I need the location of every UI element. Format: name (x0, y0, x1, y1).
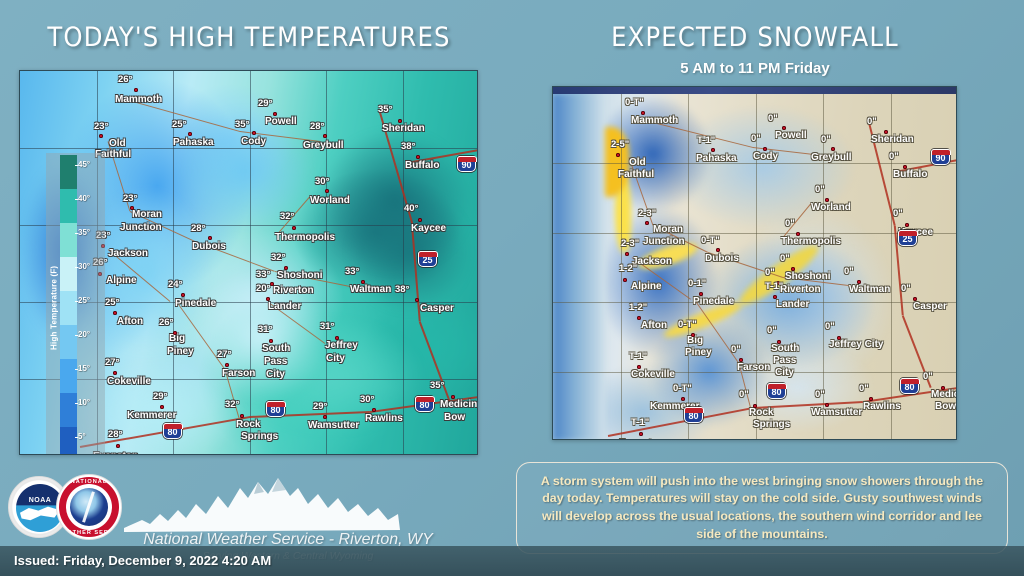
city-marker-dot (763, 147, 767, 151)
snowfall-city-labels: Mammoth0-T"OldFaithful2-5"PahaskaT-1"Cod… (553, 87, 956, 439)
colorbar-segment (60, 257, 77, 291)
city-value-label: 23° (123, 193, 137, 204)
city-marker-dot (776, 281, 780, 285)
colorbar-tick-label: 15° (78, 364, 90, 373)
city-value-label: 0" (751, 133, 761, 144)
city-name-label: Mammoth (115, 94, 162, 105)
city-marker-dot (398, 119, 402, 123)
city-name-label: Piney (167, 346, 194, 357)
city-name-label: Jeffrey City (829, 339, 883, 350)
city-marker-dot (99, 134, 103, 138)
city-name-label: Sheridan (871, 134, 914, 145)
city-name-label: Pinedale (175, 298, 216, 309)
city-name-label: Farson (737, 362, 770, 373)
city-value-label: T-1" (765, 281, 783, 292)
city-value-label: 1-2" (629, 302, 647, 313)
city-value-label: 33° (345, 266, 359, 277)
nws-logo: NATIONAL WEATHER SERVICE (56, 474, 122, 540)
city-marker-dot (623, 278, 627, 282)
city-marker-dot (869, 397, 873, 401)
city-marker-dot (372, 408, 376, 412)
city-name-label: Lander (268, 301, 301, 312)
interstate-shield-90: 90 (931, 149, 950, 165)
city-value-label: 25° (105, 297, 119, 308)
city-value-label: 30° (315, 176, 329, 187)
city-marker-dot (292, 226, 296, 230)
city-value-label: 0" (867, 116, 877, 127)
city-name-label: Powell (775, 130, 807, 141)
city-value-label: 38° (395, 284, 409, 295)
city-marker-dot (416, 155, 420, 159)
interstate-shield-90: 90 (457, 156, 476, 172)
city-name-label: Junction (120, 222, 162, 233)
city-value-label: 2-3" (638, 208, 656, 219)
temperature-colorbar (60, 155, 77, 455)
temperature-legend-label: High Temperature (F) (48, 155, 60, 455)
city-marker-dot (739, 358, 743, 362)
city-marker-dot (711, 148, 715, 152)
city-name-label: Old (629, 157, 646, 168)
colorbar-tick-label: 30° (78, 262, 90, 271)
city-name-label: Moran (132, 209, 162, 220)
city-value-label: 2-5" (611, 139, 629, 150)
city-name-label: Jackson (632, 256, 672, 267)
city-value-label: 31° (258, 324, 272, 335)
city-name-label: Medicine (440, 399, 478, 410)
interstate-shield-80: 80 (684, 407, 703, 423)
city-value-label: 28° (191, 223, 205, 234)
city-name-label: Afton (641, 320, 667, 331)
city-value-label: 0" (901, 283, 911, 294)
interstate-shield-80: 80 (767, 383, 786, 399)
city-name-label: Dubois (192, 241, 226, 252)
interstate-shield-25: 25 (418, 251, 437, 267)
city-name-label: Afton (117, 316, 143, 327)
city-name-label: Pass (264, 356, 287, 367)
city-value-label: 0-1" (688, 278, 706, 289)
city-marker-dot (639, 432, 643, 436)
city-value-label: 0" (739, 389, 749, 400)
city-marker-dot (130, 206, 134, 210)
nws-seal-text-top: NATIONAL (57, 479, 121, 485)
city-marker-dot (645, 221, 649, 225)
city-value-label: 0-T" (625, 97, 644, 108)
city-value-label: 0" (815, 389, 825, 400)
city-marker-dot (173, 331, 177, 335)
city-marker-dot (240, 414, 244, 418)
city-name-label: Kemmerer (127, 410, 176, 421)
city-name-label: Pass (773, 355, 796, 366)
city-name-label: Dubois (705, 253, 739, 264)
nws-seal-text: NATIONAL WEATHER SERVICE (57, 475, 121, 539)
city-name-label: Casper (913, 301, 947, 312)
city-name-label: Evanston (619, 438, 664, 440)
city-value-label: 33° (256, 269, 270, 280)
city-name-label: Waltman (849, 284, 890, 295)
colorbar-tick-label: 20° (78, 330, 90, 339)
temperature-legend: High Temperature (F) 45°40°35°30°25°20°1… (46, 153, 105, 455)
city-marker-dot (825, 198, 829, 202)
city-name-label: Faithful (618, 169, 654, 180)
city-marker-dot (699, 292, 703, 296)
city-name-label: Buffalo (405, 160, 439, 171)
city-marker-dot (225, 363, 229, 367)
city-name-label: Shoshoni (277, 270, 323, 281)
city-name-label: Casper (420, 303, 454, 314)
interstate-shield-25: 25 (898, 230, 917, 246)
city-name-label: City (326, 353, 345, 364)
city-marker-dot (782, 126, 786, 130)
city-name-label: South (262, 343, 290, 354)
city-marker-dot (325, 189, 329, 193)
city-name-label: South (771, 343, 799, 354)
city-marker-dot (113, 371, 117, 375)
city-name-label: Cody (753, 151, 778, 162)
city-marker-dot (884, 130, 888, 134)
city-marker-dot (777, 340, 781, 344)
city-name-label: Wamsutter (811, 407, 862, 418)
page-title-snowfall: Expected Snowfall (552, 22, 958, 53)
city-value-label: 32° (271, 252, 285, 263)
city-marker-dot (181, 293, 185, 297)
city-name-label: Springs (753, 419, 790, 430)
city-marker-dot (266, 297, 270, 301)
city-marker-dot (831, 147, 835, 151)
city-marker-dot (335, 336, 339, 340)
city-value-label: 29° (258, 98, 272, 109)
city-marker-dot (903, 165, 907, 169)
city-name-label: Kaycee (411, 223, 446, 234)
city-name-label: Worland (310, 195, 350, 206)
city-name-label: Pahaska (173, 137, 214, 148)
city-marker-dot (418, 218, 422, 222)
colorbar-tick-label: 10° (78, 398, 90, 407)
city-value-label: 0" (780, 253, 790, 264)
city-value-label: 35° (430, 380, 444, 391)
city-marker-dot (284, 266, 288, 270)
city-name-label: Thermopolis (781, 236, 841, 247)
city-value-label: T-1" (629, 351, 647, 362)
city-marker-dot (941, 386, 945, 390)
city-value-label: 0" (767, 325, 777, 336)
city-value-label: 29° (153, 391, 167, 402)
noaa-bird-icon (20, 504, 60, 526)
city-value-label: 0" (785, 218, 795, 229)
city-name-label: Riverton (780, 284, 821, 295)
city-name-label: Greybull (303, 140, 344, 151)
city-name-label: Alpine (106, 275, 137, 286)
city-marker-dot (415, 298, 419, 302)
interstate-shield-80: 80 (900, 378, 919, 394)
city-name-label: Shoshoni (785, 271, 831, 282)
city-marker-dot (637, 316, 641, 320)
snowfall-map[interactable]: Mammoth0-T"OldFaithful2-5"PahaskaT-1"Cod… (552, 86, 957, 440)
city-marker-dot (913, 297, 917, 301)
city-name-label: Powell (265, 116, 297, 127)
city-name-label: Bow (444, 412, 465, 423)
city-name-label: Cody (241, 136, 266, 147)
city-marker-dot (857, 280, 861, 284)
city-marker-dot (134, 88, 138, 92)
city-value-label: 0" (768, 113, 778, 124)
colorbar-tick-label: 35° (78, 228, 90, 237)
city-name-label: Medicine (931, 389, 957, 400)
city-value-label: T-1" (697, 135, 715, 146)
city-name-label: Alpine (631, 281, 662, 292)
temperature-map[interactable]: Mammoth26°OldFaithful23°Pahaska25°Cody35… (19, 70, 478, 455)
city-name-label: Wamsutter (308, 420, 359, 431)
city-marker-dot (796, 232, 800, 236)
city-value-label: 32° (280, 211, 294, 222)
city-marker-dot (625, 252, 629, 256)
city-marker-dot (208, 236, 212, 240)
city-marker-dot (273, 112, 277, 116)
city-value-label: 0" (765, 267, 775, 278)
city-value-label: 27° (105, 357, 119, 368)
city-value-label: 0" (889, 151, 899, 162)
temperature-colorbar-ticks: 45°40°35°30°25°20°15°10°5° (77, 155, 103, 455)
city-marker-dot (188, 132, 192, 136)
city-name-label: Jeffrey (325, 340, 358, 351)
page-title-temperature: Today's High Temperatures (19, 22, 479, 53)
city-marker-dot (691, 333, 695, 337)
city-marker-dot (837, 336, 841, 340)
city-name-label: Worland (811, 202, 851, 213)
city-value-label: 20° (256, 283, 270, 294)
city-marker-dot (323, 415, 327, 419)
city-marker-dot (773, 295, 777, 299)
city-value-label: 0" (731, 344, 741, 355)
colorbar-tick-label: 40° (78, 194, 90, 203)
colorbar-segment (60, 223, 77, 257)
city-marker-dot (753, 404, 757, 408)
city-value-label: 0" (821, 134, 831, 145)
mountain-range-graphic (122, 474, 402, 536)
city-marker-dot (269, 339, 273, 343)
city-value-label: 1-2" (619, 263, 637, 274)
city-value-label: 32° (225, 399, 239, 410)
city-name-label: Rock (749, 407, 773, 418)
interstate-shield-80: 80 (415, 396, 434, 412)
colorbar-segment (60, 393, 77, 427)
colorbar-segment (60, 189, 77, 223)
city-name-label: Moran (653, 224, 683, 235)
city-name-label: Greybull (811, 152, 852, 163)
city-marker-dot (160, 405, 164, 409)
city-name-label: Lander (776, 299, 809, 310)
city-name-label: Old (109, 138, 126, 149)
issued-bar: Issued: Friday, December 9, 2022 4:20 AM (0, 546, 1024, 576)
city-name-label: Thermopolis (275, 232, 335, 243)
colorbar-segment (60, 359, 77, 393)
city-name-label: Jackson (108, 248, 148, 259)
city-value-label: 40° (404, 203, 418, 214)
city-name-label: Buffalo (893, 169, 927, 180)
colorbar-segment (60, 427, 77, 455)
interstate-shield-80: 80 (266, 401, 285, 417)
city-marker-dot (681, 397, 685, 401)
city-marker-dot (270, 282, 274, 286)
city-name-label: Springs (241, 431, 278, 442)
city-marker-dot (641, 111, 645, 115)
city-value-label: 28° (108, 429, 122, 440)
city-marker-dot (252, 131, 256, 135)
city-value-label: 23° (94, 121, 108, 132)
city-marker-dot (905, 223, 909, 227)
city-marker-dot (116, 444, 120, 448)
city-marker-dot (825, 403, 829, 407)
city-name-label: Piney (685, 347, 712, 358)
city-marker-dot (451, 395, 455, 399)
city-value-label: 30° (360, 394, 374, 405)
city-name-label: Sheridan (382, 123, 425, 134)
city-value-label: 28° (310, 121, 324, 132)
city-value-label: 0" (859, 383, 869, 394)
colorbar-tick-label: 25° (78, 296, 90, 305)
city-name-label: Mammoth (631, 115, 678, 126)
city-value-label: 0" (825, 321, 835, 332)
city-value-label: 27° (217, 349, 231, 360)
forecast-discussion-text: A storm system will push into the west b… (533, 473, 991, 543)
city-marker-dot (637, 365, 641, 369)
city-name-label: City (266, 369, 285, 380)
city-name-label: Junction (643, 236, 685, 247)
colorbar-segment (60, 155, 77, 189)
city-marker-dot (361, 280, 365, 284)
city-name-label: Big (687, 335, 703, 346)
city-name-label: Rawlins (365, 413, 403, 424)
city-name-label: City (775, 367, 794, 378)
city-name-label: Riverton (273, 285, 314, 296)
city-value-label: 0-T" (701, 235, 720, 246)
city-value-label: 24° (168, 279, 182, 290)
nws-seal-text-bottom: WEATHER SERVICE (57, 530, 121, 536)
city-name-label: Pinedale (693, 296, 734, 307)
interstate-shield-80: 80 (163, 423, 182, 439)
colorbar-segment (60, 291, 77, 325)
city-name-label: Bow (935, 401, 956, 412)
city-value-label: 35° (378, 104, 392, 115)
city-marker-dot (791, 267, 795, 271)
forecast-discussion-box: A storm system will push into the west b… (516, 462, 1008, 554)
city-value-label: 25° (172, 119, 186, 130)
city-value-label: 29° (313, 401, 327, 412)
city-name-label: Cokeville (631, 369, 675, 380)
city-marker-dot (113, 311, 117, 315)
city-value-label: 0" (844, 266, 854, 277)
city-name-label: Rock (236, 419, 260, 430)
colorbar-tick-label: 45° (78, 160, 90, 169)
city-value-label: 35° (235, 119, 249, 130)
colorbar-segment (60, 325, 77, 359)
city-value-label: 26° (159, 317, 173, 328)
city-marker-dot (323, 134, 327, 138)
city-marker-dot (616, 153, 620, 157)
city-value-label: 0" (893, 208, 903, 219)
city-name-label: Farson (222, 368, 255, 379)
city-value-label: 0" (923, 371, 933, 382)
issued-timestamp: Issued: Friday, December 9, 2022 4:20 AM (14, 553, 271, 568)
city-value-label: 38° (401, 141, 415, 152)
city-value-label: 0" (815, 184, 825, 195)
city-marker-dot (716, 248, 720, 252)
city-value-label: 31° (320, 321, 334, 332)
city-name-label: Rawlins (863, 401, 901, 412)
city-value-label: 2-3" (621, 238, 639, 249)
city-value-label: T-1" (631, 417, 649, 428)
city-name-label: Cokeville (107, 376, 151, 387)
city-value-label: 0-T" (678, 319, 697, 330)
city-name-label: Waltman (350, 284, 391, 295)
city-value-label: 0-T" (673, 383, 692, 394)
snowfall-time-range: 5 AM to 11 PM Friday (552, 60, 958, 77)
city-name-label: Big (169, 333, 185, 344)
colorbar-tick-label: 5° (78, 432, 86, 441)
city-value-label: 26° (118, 74, 132, 85)
city-name-label: Pahaska (696, 153, 737, 164)
